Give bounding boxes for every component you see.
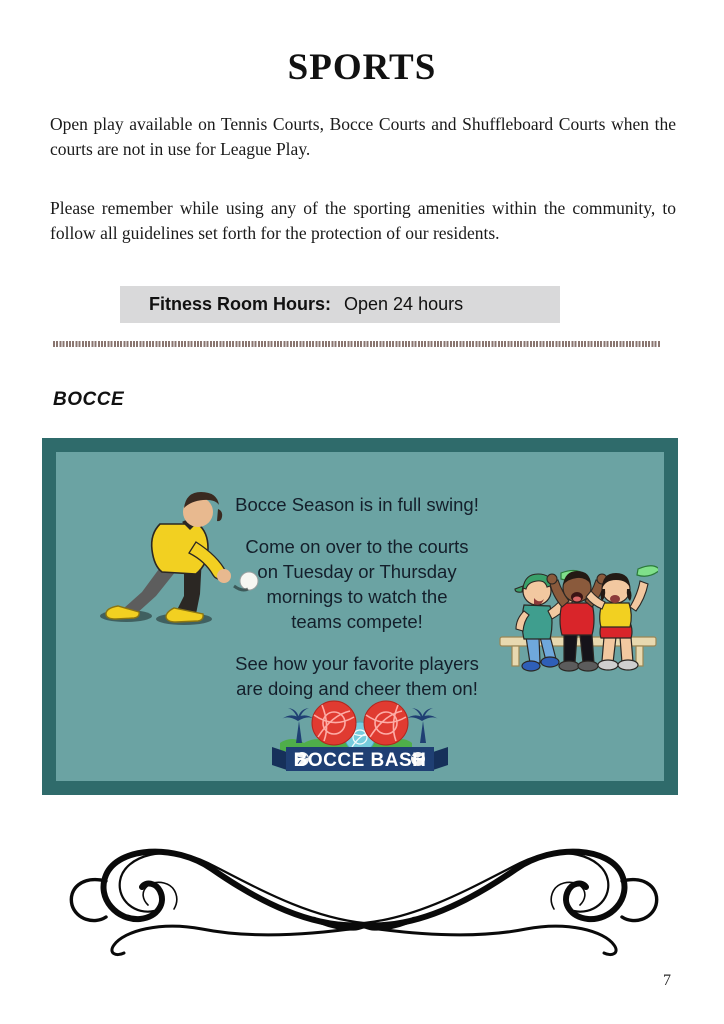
page-number: 7 [663, 972, 671, 990]
bocce-flyer-panel: Bocce Season is in full swing! Come on o… [42, 438, 678, 795]
bocce-bash-logo: BOCCE BASH [272, 683, 448, 773]
fitness-room-hours-box: Fitness Room Hours: Open 24 hours [120, 286, 560, 323]
cheering-spectators-illustration [498, 545, 658, 675]
fitness-room-hours-value: Open 24 hours [344, 294, 463, 315]
intro-paragraph-guidelines: Please remember while using any of the s… [50, 196, 676, 246]
intro-paragraph-open-play: Open play available on Tennis Courts, Bo… [50, 112, 676, 162]
flyer-line-3: on Tuesday or Thursday [192, 559, 522, 584]
flyer-line-2: Come on over to the courts [192, 534, 522, 559]
bocce-bash-logo-text: BOCCE BASH [294, 750, 427, 771]
flyer-line-6: See how your favorite players [192, 651, 522, 676]
section-heading-bocce: BOCCE [53, 389, 124, 411]
flyer-line-1: Bocce Season is in full swing! [192, 492, 522, 517]
fitness-room-hours-label: Fitness Room Hours: [149, 294, 331, 315]
flyer-line-5: teams compete! [192, 609, 522, 634]
flourish-ornament [62, 845, 666, 957]
dotted-divider [53, 341, 660, 347]
bocce-flyer-inner: Bocce Season is in full swing! Come on o… [56, 452, 664, 781]
page-title: SPORTS [0, 49, 724, 86]
bocce-flyer-text: Bocce Season is in full swing! Come on o… [192, 492, 522, 701]
flyer-line-4: mornings to watch the [192, 584, 522, 609]
